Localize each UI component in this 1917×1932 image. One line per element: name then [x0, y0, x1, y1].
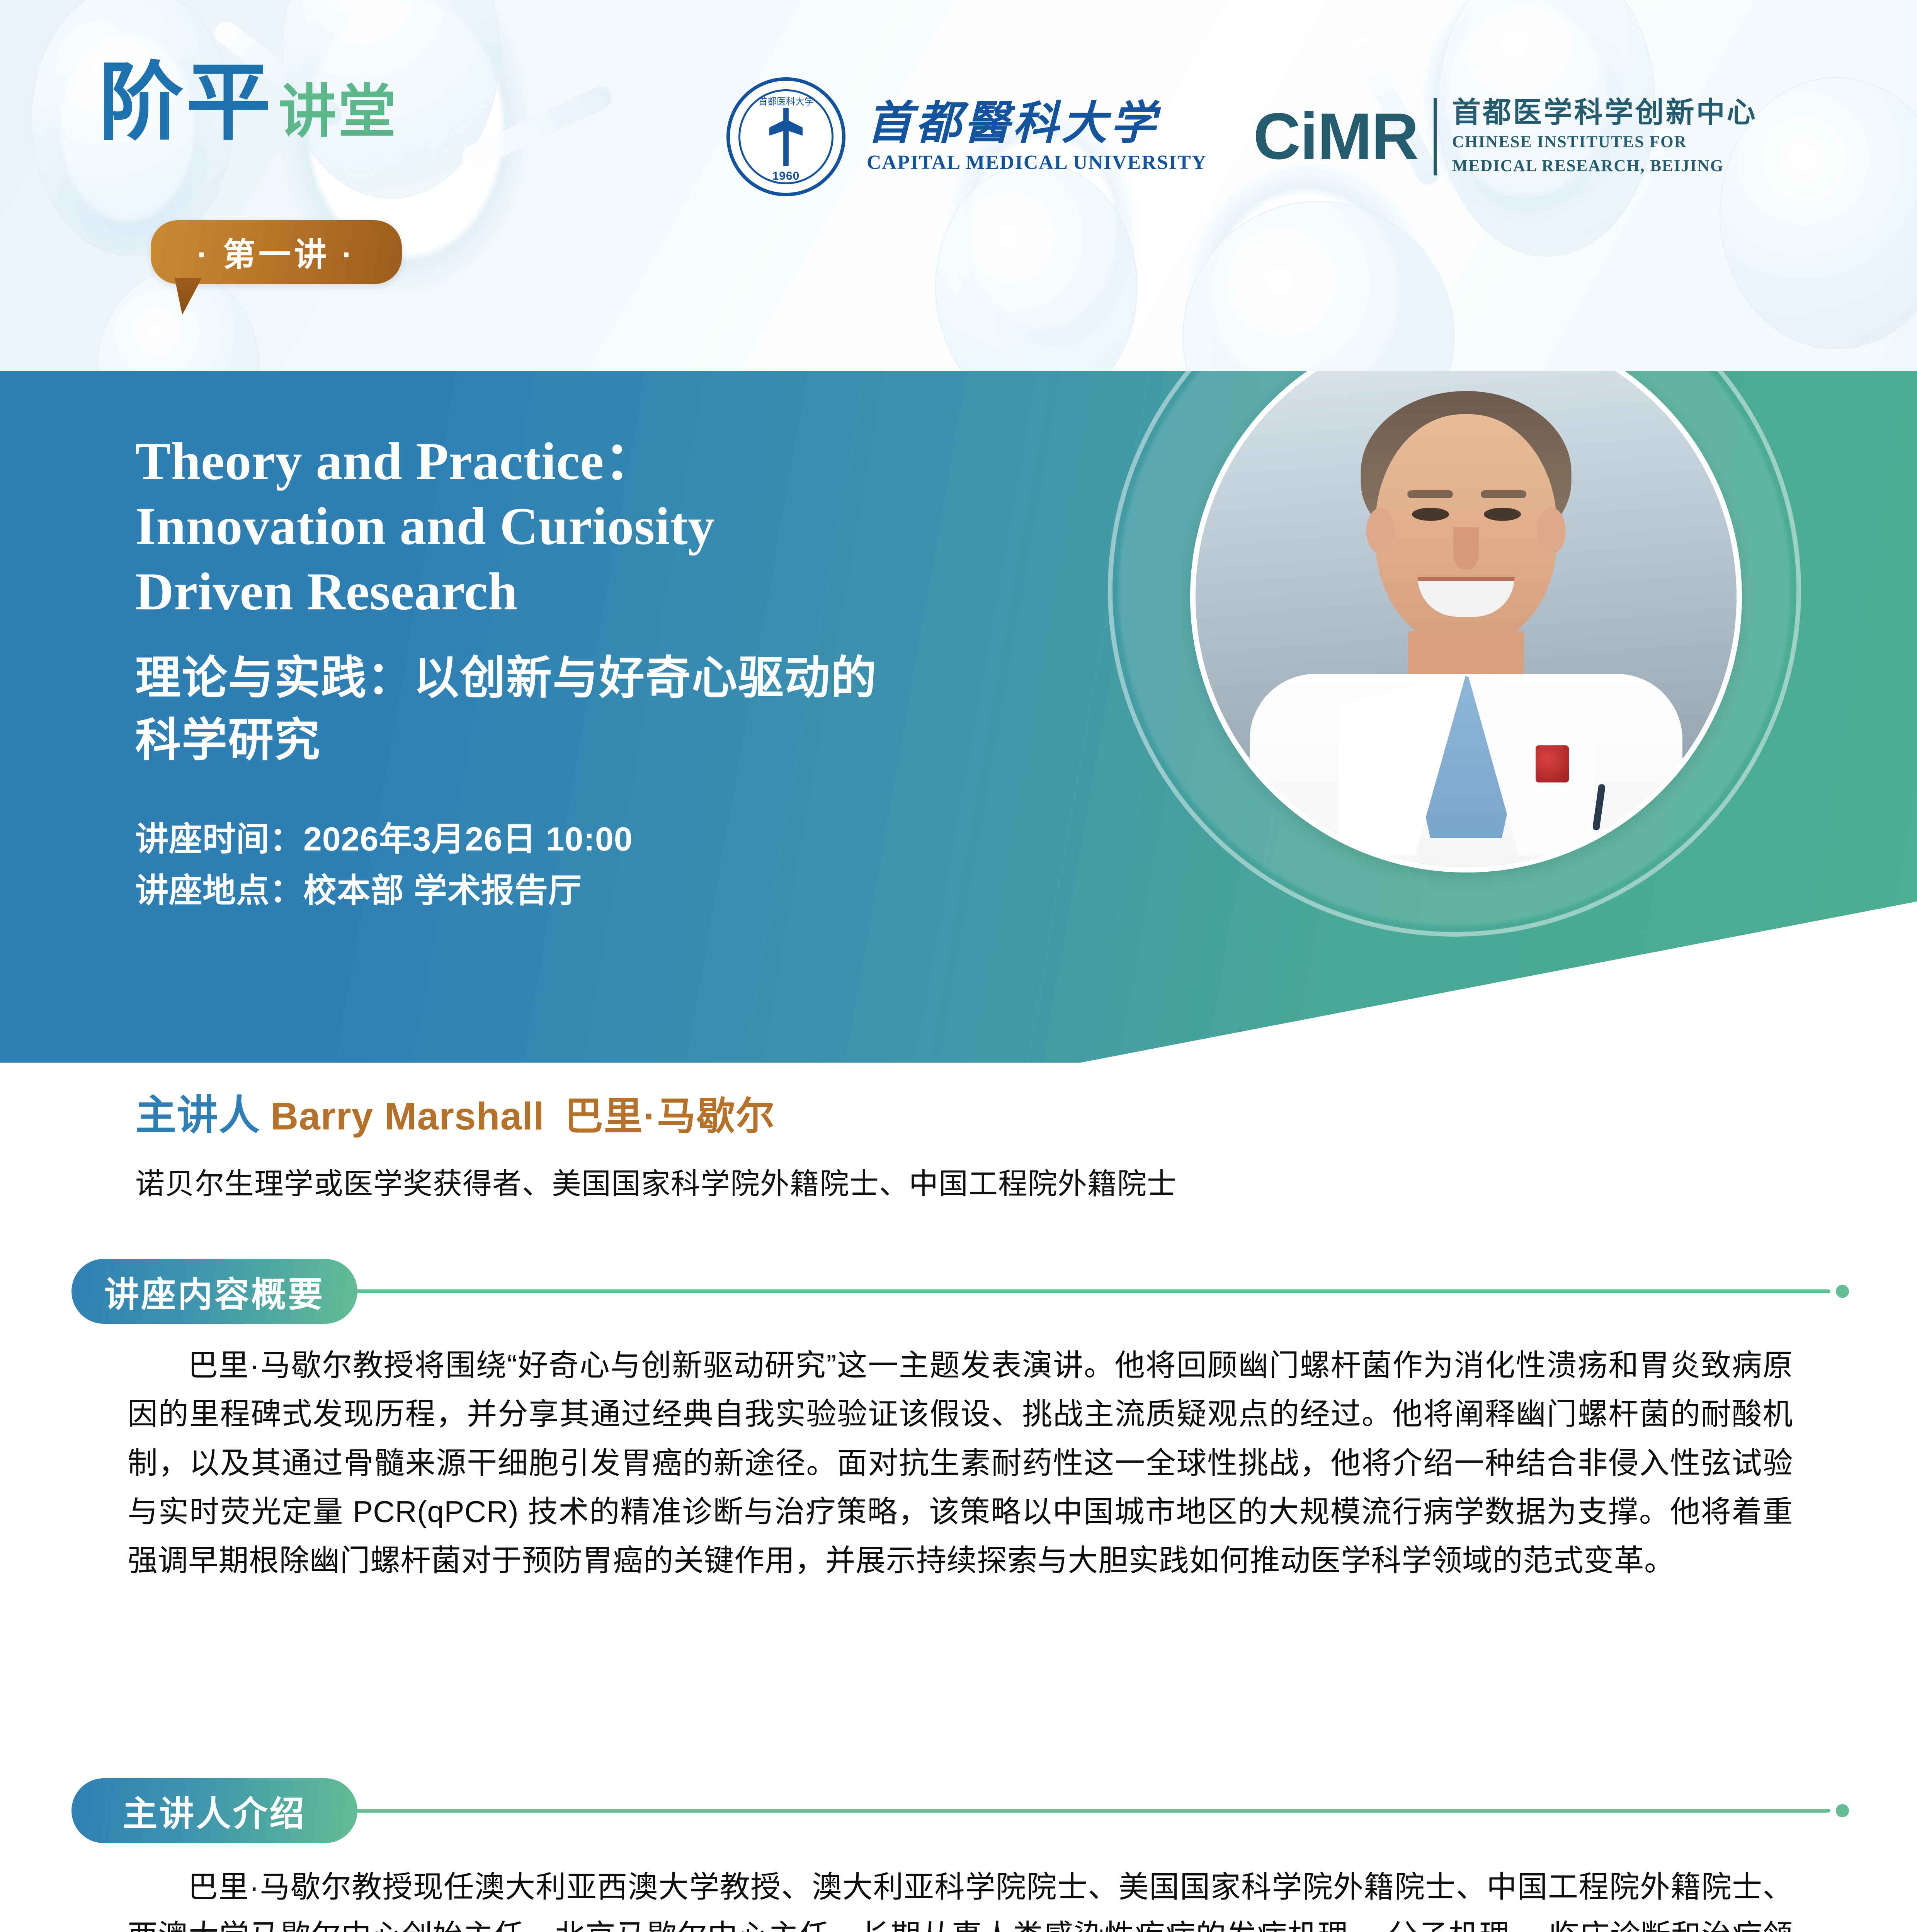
- portrait-eye-right: [1484, 508, 1521, 521]
- cimr-wordmark: 首都医学科学创新中心 CHINESE INSTITUTES FOR MEDICA…: [1452, 97, 1757, 177]
- speaker-name-row: 主讲人 Barry Marshall 巴里·马歇尔: [135, 1082, 1681, 1141]
- lecture-time-value: 2026年3月26日 10:00: [303, 821, 633, 858]
- cmu-name-cn: 首都醫科大学: [867, 100, 1207, 148]
- episode-badge-wrap: · 第一讲 ·: [151, 220, 402, 284]
- section-title-bio: 主讲人介绍: [71, 1778, 357, 1843]
- speaker-block: 主讲人 Barry Marshall 巴里·马歇尔 诺贝尔生理学或医学奖获得者、…: [135, 1082, 1681, 1202]
- portrait-ear-right: [1537, 508, 1566, 554]
- hero-text-block: Theory and Practice： Innovation and Curi…: [135, 429, 1109, 917]
- speaker-portrait: [1190, 371, 1742, 872]
- brand-secondary-text: 讲堂: [279, 83, 398, 141]
- cmu-seal-icon: 首都医科大学 1960: [726, 77, 845, 196]
- speaker-name-cn: 巴里·马歇尔: [565, 1085, 775, 1141]
- speaker-role-label: 主讲人: [135, 1082, 260, 1141]
- section-rule-overview: [356, 1289, 1830, 1293]
- cmu-name-en: CAPITAL MEDICAL UNIVERSITY: [867, 151, 1207, 174]
- cimr-mark-text: CiMR: [1253, 105, 1418, 168]
- cmu-seal-top-text: 首都医科大学: [758, 94, 814, 107]
- lecture-meta: 讲座时间：2026年3月26日 10:00 讲座地点：校本部 学术报告厅: [135, 814, 1109, 917]
- logo-row: 首都医科大学 1960 首都醫科大学 CAPITAL MEDICAL UNIVE…: [726, 77, 1757, 196]
- portrait-eye-left: [1412, 508, 1449, 521]
- section-title-overview: 讲座内容概要: [71, 1259, 357, 1324]
- cmu-wordmark: 首都醫科大学 CAPITAL MEDICAL UNIVERSITY: [867, 100, 1207, 174]
- cimr-logo: CiMR 首都医学科学创新中心 CHINESE INSTITUTES FOR M…: [1253, 97, 1757, 177]
- hero-band: Theory and Practice： Innovation and Curi…: [0, 371, 1917, 1063]
- portrait-brow-right: [1481, 490, 1526, 498]
- cmu-seal-emblem-icon: [769, 108, 803, 166]
- bio-body: 巴里·马歇尔教授现任澳大利亚西澳大学教授、澳大利亚科学院院士、美国国家科学院外籍…: [128, 1862, 1793, 1932]
- lecture-venue-label: 讲座地点：: [135, 872, 303, 909]
- section-enddot-bio: [1836, 1804, 1849, 1817]
- brand-lockup: 阶平 讲堂: [99, 60, 398, 145]
- lecture-title-en-line1: Theory and Practice：: [135, 429, 1109, 494]
- section-rule-bio: [356, 1809, 1830, 1813]
- overview-body: 巴里·马歇尔教授将围绕“好奇心与创新驱动研究”这一主题发表演讲。他将回顾幽门螺杆…: [128, 1341, 1793, 1585]
- cimr-name-cn: 首都医学科学创新中心: [1452, 97, 1757, 129]
- lecture-title-en: Theory and Practice： Innovation and Curi…: [135, 429, 1109, 624]
- portrait-ear-left: [1366, 508, 1395, 554]
- lecture-venue-row: 讲座地点：校本部 学术报告厅: [135, 865, 1109, 917]
- lecture-title-cn-line1: 理论与实践：以创新与好奇心驱动的: [135, 647, 1109, 709]
- speaker-credentials: 诺贝尔生理学或医学奖获得者、美国国家科学院外籍院士、中国工程院外籍院士: [135, 1160, 1681, 1202]
- section-header-overview: 讲座内容概要: [71, 1259, 1849, 1324]
- section-header-bio: 主讲人介绍: [71, 1778, 1849, 1843]
- cimr-name-en-1: CHINESE INSTITUTES FOR: [1452, 132, 1757, 153]
- lecture-title-cn: 理论与实践：以创新与好奇心驱动的 科学研究: [135, 647, 1109, 771]
- cmu-logo: 首都医科大学 1960 首都醫科大学 CAPITAL MEDICAL UNIVE…: [726, 77, 1207, 196]
- portrait-brow-left: [1407, 490, 1453, 498]
- brand-primary-text: 阶平: [99, 60, 273, 145]
- top-banner: 阶平 讲堂 · 第一讲 · 首都医科大学 1960 首都醫科大学 CAPITAL…: [0, 0, 1917, 371]
- cimr-name-en-2: MEDICAL RESEARCH, BEIJING: [1452, 156, 1757, 177]
- overview-paragraph-1: 巴里·马歇尔教授将围绕“好奇心与创新驱动研究”这一主题发表演讲。他将回顾幽门螺杆…: [128, 1341, 1793, 1585]
- lecture-time-row: 讲座时间：2026年3月26日 10:00: [135, 814, 1109, 865]
- bio-paragraph-1: 巴里·马歇尔教授现任澳大利亚西澳大学教授、澳大利亚科学院院士、美国国家科学院外籍…: [128, 1862, 1793, 1932]
- episode-badge: · 第一讲 ·: [151, 220, 402, 284]
- lecture-time-label: 讲座时间：: [135, 821, 303, 858]
- portrait-nose: [1453, 527, 1479, 570]
- lecture-venue-value: 校本部 学术报告厅: [303, 872, 582, 909]
- lecture-title-en-line2: Innovation and Curiosity: [135, 494, 1109, 559]
- cimr-divider: [1434, 98, 1437, 175]
- lecture-title-en-line3: Driven Research: [135, 559, 1109, 624]
- lecture-title-cn-line2: 科学研究: [135, 709, 1109, 771]
- section-enddot-overview: [1836, 1285, 1849, 1298]
- cmu-seal-year: 1960: [772, 170, 800, 183]
- speaker-name-en: Barry Marshall: [270, 1094, 544, 1139]
- portrait-badge-icon: [1536, 745, 1569, 782]
- decorative-bubble: [1182, 201, 1454, 371]
